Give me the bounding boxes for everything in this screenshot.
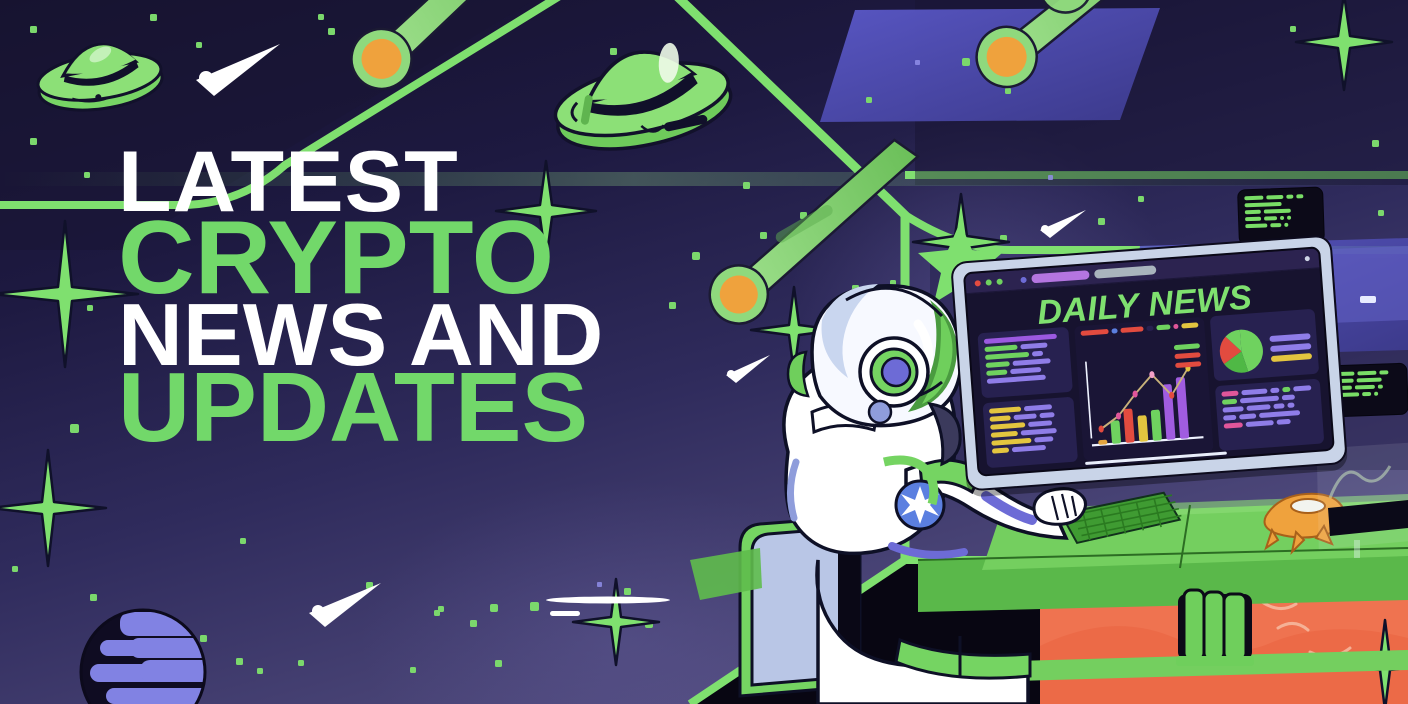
canisters: [1176, 590, 1254, 666]
chart-legend-item: [1175, 352, 1201, 359]
pad-bar: [1280, 216, 1284, 220]
pad-bar: [1356, 378, 1382, 383]
text-bar: [1282, 387, 1290, 393]
text-bar: [1010, 367, 1042, 374]
text-bar: [1012, 445, 1046, 452]
chart-bar: [1138, 415, 1149, 442]
secondary-bar[interactable]: [1094, 265, 1156, 279]
text-line-row: [1216, 322, 1219, 327]
text-bar: [1024, 404, 1053, 411]
text-bar: [1031, 351, 1042, 357]
data-table-card[interactable]: [1215, 379, 1324, 451]
pad-bar: [1266, 195, 1283, 200]
pie-chart: [1217, 327, 1266, 376]
text-bar: [985, 352, 1029, 360]
pie-legend-item: [1271, 353, 1312, 362]
pie-legend: [1270, 333, 1313, 362]
text-bar: [1293, 385, 1312, 391]
chart-legend: [1174, 343, 1202, 368]
pad-bar: [1286, 195, 1293, 199]
pad-line: [1244, 194, 1316, 201]
pad-bar: [1264, 216, 1277, 220]
text-bar: [1224, 422, 1243, 428]
text-bar: [1282, 394, 1295, 400]
chrome-menu-dot[interactable]: [1305, 256, 1310, 261]
text-bar: [1259, 410, 1300, 418]
pad-bar: [1296, 194, 1303, 198]
text-bar: [1028, 420, 1052, 427]
address-bar[interactable]: [1031, 270, 1090, 283]
text-bar: [989, 407, 1021, 414]
pad-line: [1336, 370, 1400, 376]
pad-bar: [1264, 209, 1291, 214]
chart-tick: [1147, 326, 1154, 331]
text-bar: [986, 369, 1007, 375]
text-bar: [1223, 406, 1244, 412]
text-bar: [1223, 415, 1236, 421]
monitor-screen: DAILY NEWS: [963, 246, 1335, 477]
text-bar: [991, 431, 1018, 438]
pad-bar: [1287, 216, 1291, 220]
text-bar: [1276, 419, 1291, 425]
text-bar: [1240, 396, 1279, 404]
chart-tick: [1181, 322, 1199, 328]
chart-tick: [1173, 324, 1179, 329]
dashboard-left-column: [977, 327, 1078, 468]
headline: LATEST CRYPTO NEWS AND UPDATES: [118, 146, 594, 449]
chart-tick: [1081, 329, 1109, 336]
text-bar: [1012, 358, 1050, 366]
pie-card[interactable]: [1210, 309, 1319, 381]
text-bar: [1245, 420, 1273, 427]
text-bar: [1246, 404, 1270, 411]
text-bar: [1273, 403, 1284, 409]
text-bar: [1013, 413, 1037, 420]
monitor: DAILY NEWS: [950, 234, 1348, 491]
banner-illustration: LATEST CRYPTO NEWS AND UPDATES DAILY NEW…: [0, 0, 1408, 704]
news-list-card-upper[interactable]: [977, 327, 1073, 399]
pad-line: [1245, 208, 1317, 215]
pad-line: [1245, 215, 1317, 222]
window-close-dot[interactable]: [974, 280, 980, 286]
pad-bar: [1244, 196, 1263, 201]
tab-indicator-dot: [1020, 276, 1026, 282]
pad-line: [1337, 384, 1401, 390]
pad-line: [1245, 201, 1317, 208]
window-minimize-dot[interactable]: [985, 279, 991, 285]
pad-bar: [1362, 392, 1371, 396]
chart-tick: [1156, 324, 1170, 330]
pad-bar: [1357, 371, 1376, 376]
pad-line: [1245, 222, 1317, 229]
pad-bar: [1284, 223, 1288, 227]
news-list-card-lower[interactable]: [983, 397, 1079, 469]
text-bar: [986, 361, 1010, 368]
window-maximize-dot[interactable]: [996, 278, 1002, 284]
text-bar: [1270, 388, 1280, 394]
text-bar: [984, 345, 1018, 352]
dashboard-chart-column: [1074, 317, 1214, 461]
chart-bar: [1111, 420, 1122, 444]
dashboard-right-column: [1210, 309, 1324, 451]
text-bar: [1239, 413, 1256, 419]
text-bar: [991, 438, 1031, 446]
pad-bar: [1270, 223, 1282, 227]
headline-line-4: UPDATES: [118, 365, 603, 449]
text-bar: [1287, 402, 1295, 408]
chart-legend-item: [1174, 343, 1200, 350]
text-bar: [1021, 428, 1058, 436]
dashboard-panels: [977, 309, 1324, 468]
text-bar: [992, 447, 1010, 453]
pad-bar: [1377, 385, 1382, 389]
text-bar: [987, 375, 1046, 384]
pie-legend-item: [1270, 333, 1311, 342]
chart-bar: [1098, 440, 1107, 445]
pie-legend-item: [1270, 343, 1311, 352]
chart-tick: [1112, 328, 1118, 333]
pad-line: [1337, 391, 1401, 397]
text-bar: [1034, 436, 1053, 442]
pad-bar: [1379, 370, 1388, 374]
text-bar: [990, 422, 1025, 430]
text-bar: [1222, 399, 1237, 405]
pad-bar: [1245, 223, 1267, 228]
text-bar: [1222, 391, 1239, 397]
price-chart-card[interactable]: [1074, 317, 1214, 461]
chart-bar: [1151, 410, 1162, 441]
text-bar: [1241, 388, 1267, 395]
pad-bar: [1245, 210, 1261, 215]
text-bar: [1040, 412, 1055, 418]
text-bar: [1021, 342, 1048, 349]
pad-bar: [1374, 392, 1378, 396]
pad-line: [1337, 377, 1401, 383]
chart-bar: [1123, 408, 1135, 442]
pad-bar: [1245, 202, 1283, 207]
pad-bar: [1245, 217, 1261, 222]
pad-bar: [1355, 385, 1374, 390]
text-bar: [990, 415, 1011, 421]
chart-tick: [1120, 326, 1144, 333]
